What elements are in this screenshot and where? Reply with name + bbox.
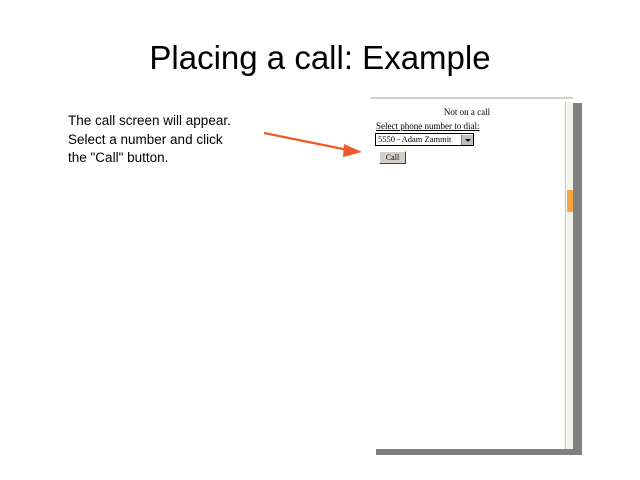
call-button[interactable]: Call bbox=[379, 151, 406, 164]
scrollbar-thumb[interactable] bbox=[567, 190, 573, 212]
phone-select-label: Select phone number to dial: bbox=[376, 121, 479, 132]
body-text-line: Select a number and click bbox=[68, 131, 268, 150]
scrollbar-track[interactable] bbox=[567, 102, 573, 449]
body-text-line: The call screen will appear. bbox=[68, 112, 268, 131]
chevron-down-glyph bbox=[465, 139, 471, 142]
slide: Placing a call: Example The call screen … bbox=[0, 0, 640, 480]
page-title: Placing a call: Example bbox=[0, 38, 640, 78]
call-status-text: Not on a call bbox=[371, 107, 563, 118]
phone-select-value: 5550 - Adam Zammit bbox=[378, 134, 451, 145]
chevron-down-icon[interactable] bbox=[461, 134, 473, 145]
browser-viewport: Not on a call Select phone number to dia… bbox=[370, 97, 573, 449]
call-screen-screenshot: Not on a call Select phone number to dia… bbox=[370, 97, 573, 449]
panel-shadow-right bbox=[573, 103, 582, 455]
call-screen-content: Not on a call Select phone number to dia… bbox=[371, 102, 563, 449]
body-text-block: The call screen will appear. Select a nu… bbox=[68, 112, 268, 168]
body-text-line: the "Call" button. bbox=[68, 149, 268, 168]
pointer-arrow-icon bbox=[258, 124, 370, 162]
phone-number-select[interactable]: 5550 - Adam Zammit bbox=[375, 133, 474, 146]
vertical-scrollbar[interactable] bbox=[565, 102, 573, 449]
